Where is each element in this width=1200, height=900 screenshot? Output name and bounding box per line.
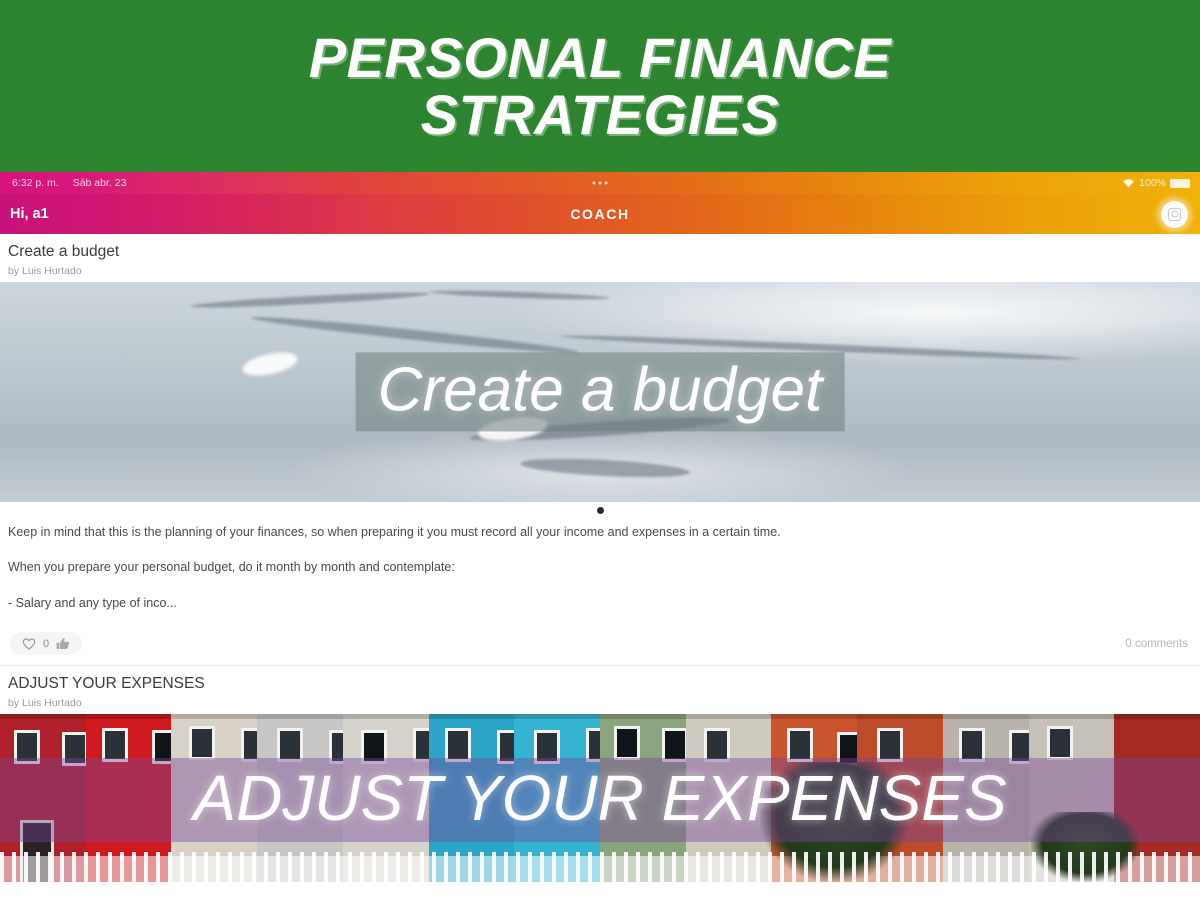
status-bar-right: 100%	[1122, 177, 1190, 189]
wifi-icon	[1122, 178, 1135, 188]
post-author: by Luis Hurtado	[8, 697, 1192, 709]
post-header: Create a budget by Luis Hurtado	[0, 234, 1200, 282]
status-date: Sáb abr. 23	[73, 177, 127, 189]
reaction-button[interactable]: 0	[10, 632, 82, 655]
post-paragraph: - Salary and any type of inco...	[8, 595, 1192, 612]
hero-caption: ADJUST YOUR EXPENSES	[0, 766, 1200, 830]
avatar-icon	[1168, 208, 1181, 221]
greeting-label: Hi, a1	[10, 206, 49, 222]
heart-icon	[22, 637, 36, 650]
post-title[interactable]: Create a budget	[8, 243, 1192, 262]
thumbs-up-icon	[56, 637, 70, 650]
status-bar-left: 6:32 p. m. Sáb abr. 23	[12, 177, 126, 189]
post-author: by Luis Hurtado	[8, 265, 1192, 277]
app-bar: Hi, a1 COACH	[0, 194, 1200, 234]
promo-title: PERSONAL FINANCE STRATEGIES	[309, 29, 892, 143]
post-body: Keep in mind that this is the planning o…	[0, 520, 1200, 613]
comments-count[interactable]: 0 comments	[1125, 638, 1188, 650]
feed-post[interactable]: ADJUST YOUR EXPENSES by Luis Hurtado	[0, 666, 1200, 882]
feed-post[interactable]: Create a budget by Luis Hurtado Create a…	[0, 234, 1200, 666]
reaction-count: 0	[43, 638, 49, 650]
post-paragraph: When you prepare your personal budget, d…	[8, 559, 1192, 576]
post-title[interactable]: ADJUST YOUR EXPENSES	[8, 675, 1192, 694]
app-screenshot: 6:32 p. m. Sáb abr. 23 100% Hi, a1 COACH	[0, 172, 1200, 900]
promo-banner: PERSONAL FINANCE STRATEGIES	[0, 0, 1200, 172]
status-bar: 6:32 p. m. Sáb abr. 23 100%	[0, 172, 1200, 194]
carousel-indicator[interactable]	[0, 502, 1200, 520]
app-title: COACH	[570, 206, 629, 222]
app-root: PERSONAL FINANCE STRATEGIES 6:32 p. m. S…	[0, 0, 1200, 900]
fence	[0, 852, 1200, 882]
feed: Create a budget by Luis Hurtado Create a…	[0, 234, 1200, 882]
avatar-button[interactable]	[1161, 201, 1188, 228]
hero-caption: Create a budget	[356, 352, 845, 431]
post-hero-image[interactable]: ADJUST YOUR EXPENSES	[0, 714, 1200, 882]
carousel-dot[interactable]	[597, 507, 604, 514]
battery-icon	[1170, 179, 1190, 188]
status-time: 6:32 p. m.	[12, 177, 59, 189]
post-hero-image[interactable]: Create a budget	[0, 282, 1200, 502]
post-reactions: 0 0 comments	[0, 622, 1200, 666]
more-dots-icon	[593, 182, 608, 185]
post-header: ADJUST YOUR EXPENSES by Luis Hurtado	[0, 666, 1200, 714]
post-paragraph: Keep in mind that this is the planning o…	[8, 524, 1192, 541]
battery-percent: 100%	[1139, 177, 1166, 189]
